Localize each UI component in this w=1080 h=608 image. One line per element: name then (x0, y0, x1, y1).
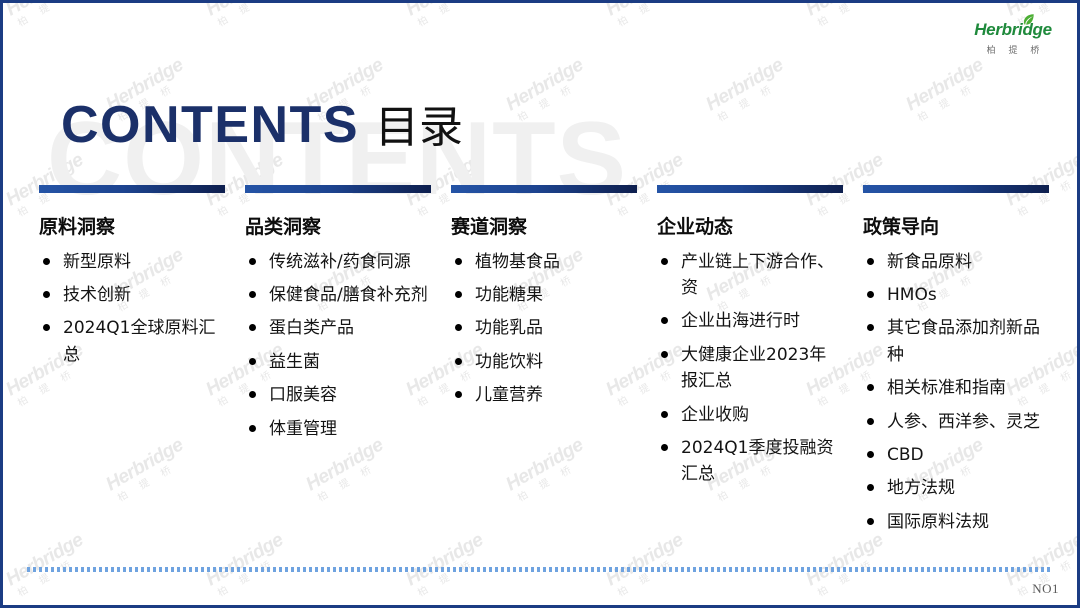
watermark-tile: Herbridge柏 提 桥 (903, 55, 994, 127)
column-title: 品类洞察 (245, 216, 431, 239)
list-item[interactable]: 新型原料 (39, 249, 225, 275)
list-item[interactable]: HMOs (863, 282, 1049, 308)
list-item[interactable]: 国际原料法规 (863, 509, 1049, 535)
column-item-list: 传统滋补/药食同源 保健食品/膳食补充剂 蛋白类产品 益生菌 口服美容 体重管理 (245, 249, 431, 442)
list-item[interactable]: 口服美容 (245, 382, 431, 408)
brand-logo: Herbridge 柏 提 桥 (967, 21, 1059, 56)
column-title: 企业动态 (657, 216, 843, 239)
list-item[interactable]: 功能饮料 (451, 349, 637, 375)
list-item[interactable]: 企业出海进行时 (657, 308, 843, 334)
list-item[interactable]: CBD (863, 442, 1049, 468)
column-item-list: 植物基食品 功能糖果 功能乳品 功能饮料 儿童营养 (451, 249, 637, 409)
list-item[interactable]: 2024Q1全球原料汇总 (39, 315, 225, 368)
contents-column: 原料洞察 新型原料 技术创新 2024Q1全球原料汇总 (39, 185, 225, 542)
watermark-tile: Herbridge柏 提 桥 (803, 3, 894, 32)
list-item[interactable]: 2024Q1季度投融资汇总 (657, 435, 843, 488)
contents-column: 企业动态 产业链上下游合作、资 企业出海进行时 大健康企业2023年报汇总 企业… (657, 185, 843, 542)
brand-logo-cn: 柏 提 桥 (967, 43, 1059, 56)
list-item[interactable]: 技术创新 (39, 282, 225, 308)
page-title-en: CONTENTS (61, 99, 359, 151)
list-item[interactable]: 新食品原料 (863, 249, 1049, 275)
column-accent-bar (451, 185, 637, 193)
list-item[interactable]: 人参、西洋参、灵芝 (863, 409, 1049, 435)
watermark-tile: Herbridge柏 提 桥 (403, 3, 494, 32)
watermark-tile: Herbridge柏 提 桥 (703, 55, 794, 127)
page-title-cn: 目录 (375, 106, 463, 150)
footer-dotted-divider (27, 567, 1053, 572)
column-item-list: 产业链上下游合作、资 企业出海进行时 大健康企业2023年报汇总 企业收购 20… (657, 249, 843, 488)
list-item[interactable]: 企业收购 (657, 402, 843, 428)
watermark-tile: Herbridge柏 提 桥 (603, 3, 694, 32)
column-accent-bar (657, 185, 843, 193)
list-item[interactable]: 体重管理 (245, 416, 431, 442)
list-item[interactable]: 益生菌 (245, 349, 431, 375)
list-item[interactable]: 蛋白类产品 (245, 315, 431, 341)
column-title: 赛道洞察 (451, 216, 637, 239)
contents-column: 品类洞察 传统滋补/药食同源 保健食品/膳食补充剂 蛋白类产品 益生菌 口服美容… (245, 185, 431, 542)
list-item[interactable]: 其它食品添加剂新品种 (863, 315, 1049, 368)
column-accent-bar (39, 185, 225, 193)
column-title: 政策导向 (863, 216, 1049, 239)
column-item-list: 新食品原料 HMOs 其它食品添加剂新品种 相关标准和指南 人参、西洋参、灵芝 … (863, 249, 1049, 535)
list-item[interactable]: 植物基食品 (451, 249, 637, 275)
list-item[interactable]: 儿童营养 (451, 382, 637, 408)
brand-logo-en-text: Herbridge (974, 20, 1052, 39)
list-item[interactable]: 大健康企业2023年报汇总 (657, 342, 843, 395)
contents-column: 政策导向 新食品原料 HMOs 其它食品添加剂新品种 相关标准和指南 人参、西洋… (863, 185, 1049, 542)
leaf-icon (1022, 13, 1035, 26)
contents-columns: 原料洞察 新型原料 技术创新 2024Q1全球原料汇总 品类洞察 传统滋补/药食… (39, 185, 1051, 542)
list-item[interactable]: 相关标准和指南 (863, 375, 1049, 401)
contents-column: 赛道洞察 植物基食品 功能糖果 功能乳品 功能饮料 儿童营养 (451, 185, 637, 542)
list-item[interactable]: 产业链上下游合作、资 (657, 249, 843, 302)
list-item[interactable]: 功能乳品 (451, 315, 637, 341)
slide-root: Herbridge柏 提 桥Herbridge柏 提 桥Herbridge柏 提… (0, 0, 1080, 608)
column-title: 原料洞察 (39, 216, 225, 239)
watermark-tile: Herbridge柏 提 桥 (203, 3, 294, 32)
watermark-tile: Herbridge柏 提 桥 (3, 3, 94, 32)
brand-logo-en: Herbridge (967, 21, 1059, 40)
page-number: NO1 (1032, 581, 1059, 597)
column-accent-bar (863, 185, 1049, 193)
page-title: CONTENTS 目录 (61, 99, 463, 151)
column-accent-bar (245, 185, 431, 193)
list-item[interactable]: 传统滋补/药食同源 (245, 249, 431, 275)
list-item[interactable]: 保健食品/膳食补充剂 (245, 282, 431, 308)
column-item-list: 新型原料 技术创新 2024Q1全球原料汇总 (39, 249, 225, 368)
list-item[interactable]: 功能糖果 (451, 282, 637, 308)
list-item[interactable]: 地方法规 (863, 475, 1049, 501)
